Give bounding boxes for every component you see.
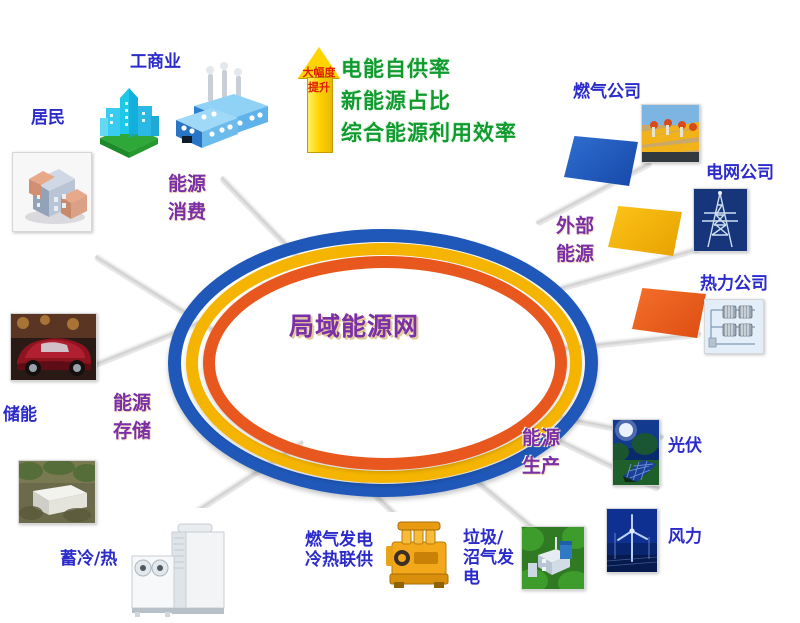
- node-label-wind-power: 风力: [668, 527, 702, 547]
- transmission-tower-photo: [693, 188, 748, 252]
- chip-heat-company: [632, 288, 706, 338]
- group-label-external-line1: 外部: [556, 215, 594, 237]
- highlight-line-1: 电能自供率: [341, 57, 451, 82]
- office-building-icon: [86, 76, 172, 162]
- group-label-production-line1: 能源: [522, 427, 560, 449]
- group-label-storage-line1: 能源: [113, 392, 151, 414]
- battery-container-photo: [18, 460, 96, 524]
- radiator-diagram-icon: [704, 299, 764, 354]
- node-label-heat-company: 热力公司: [700, 274, 768, 294]
- node-label-waste-biogas: 垃圾/ 沼气发 电: [463, 528, 514, 588]
- node-label-gas-chp: 燃气发电 冷热联供: [305, 530, 373, 570]
- improvement-arrow-badge: 大幅度提升: [298, 47, 340, 151]
- center-title: 局域能源网: [289, 312, 419, 342]
- group-label-external-line2: 能源: [556, 243, 594, 265]
- electric-car-photo: [10, 313, 97, 381]
- arrow-badge-text: 大幅度提升: [298, 65, 340, 95]
- solar-panel-photo: [612, 419, 660, 486]
- house-icon: [12, 152, 92, 232]
- gas-engine-photo: [384, 512, 454, 594]
- chip-gas-company: [564, 136, 638, 186]
- factory-icon: [168, 62, 272, 154]
- chip-grid-company: [608, 206, 682, 256]
- node-label-cold-heat-store: 蓄冷/热: [60, 549, 117, 569]
- biogas-plant-photo: [521, 526, 585, 590]
- group-label-consumption-line2: 消费: [168, 201, 206, 223]
- node-label-residents: 居民: [31, 108, 65, 128]
- group-label-consumption-line1: 能源: [168, 173, 206, 195]
- gas-pipeline-photo: [641, 104, 700, 163]
- highlight-line-3: 综合能源利用效率: [341, 121, 517, 146]
- highlight-line-2: 新能源占比: [341, 89, 451, 114]
- ring-inner-orange: [203, 256, 567, 470]
- energy-network-diagram: 局域能源网 大幅度提升 电能自供率 新能源占比 综合能源利用效率 能源 消费 外…: [0, 0, 800, 623]
- group-label-storage-line2: 存储: [113, 420, 151, 442]
- node-label-gas-company: 燃气公司: [573, 82, 641, 102]
- hvac-unit-photo: [118, 508, 238, 620]
- node-label-energy-storage: 储能: [3, 405, 37, 425]
- wind-turbine-photo: [606, 508, 658, 573]
- node-label-solar-pv: 光伏: [668, 436, 702, 456]
- node-label-grid-company: 电网公司: [706, 163, 774, 183]
- group-label-production-line2: 生产: [522, 455, 560, 477]
